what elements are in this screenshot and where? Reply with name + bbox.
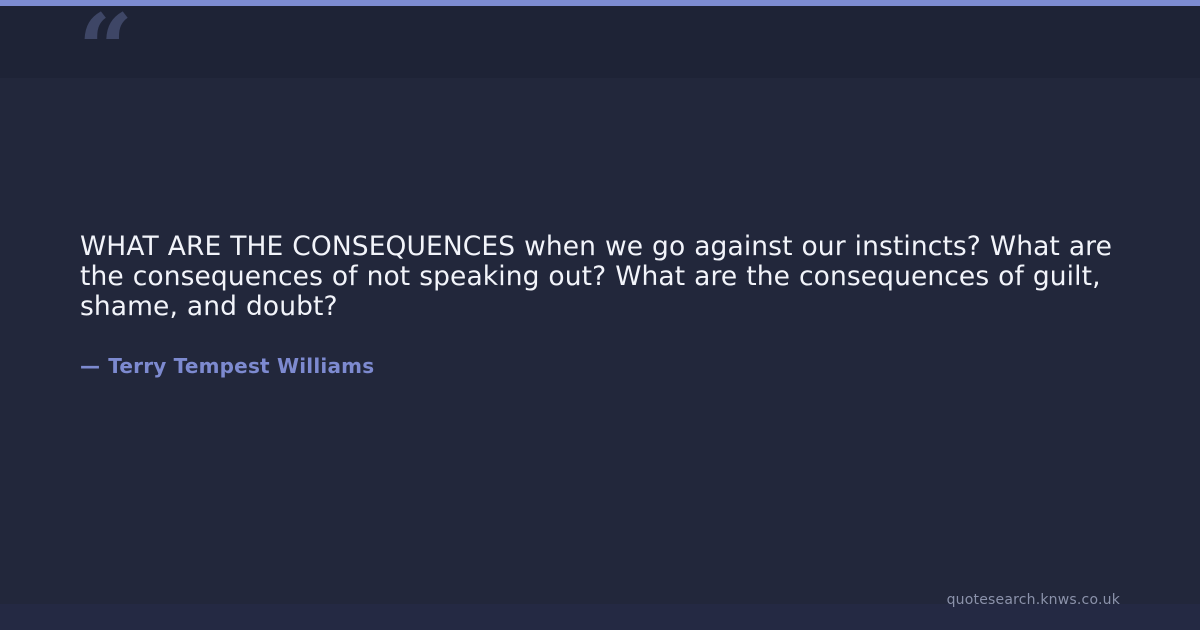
author-name: Terry Tempest Williams — [108, 354, 374, 378]
background-band-top — [0, 6, 1200, 78]
quote-content: WHAT ARE THE CONSEQUENCES when we go aga… — [80, 232, 1115, 379]
quote-attribution: —Terry Tempest Williams — [80, 322, 1115, 379]
quote-text: WHAT ARE THE CONSEQUENCES when we go aga… — [80, 232, 1115, 322]
quotation-mark-icon: “ — [78, 2, 131, 98]
quote-card: “ WHAT ARE THE CONSEQUENCES when we go a… — [0, 0, 1200, 630]
site-url-label: quotesearch.knws.co.uk — [947, 591, 1120, 609]
top-accent-bar — [0, 0, 1200, 6]
attribution-dash: — — [80, 354, 100, 378]
